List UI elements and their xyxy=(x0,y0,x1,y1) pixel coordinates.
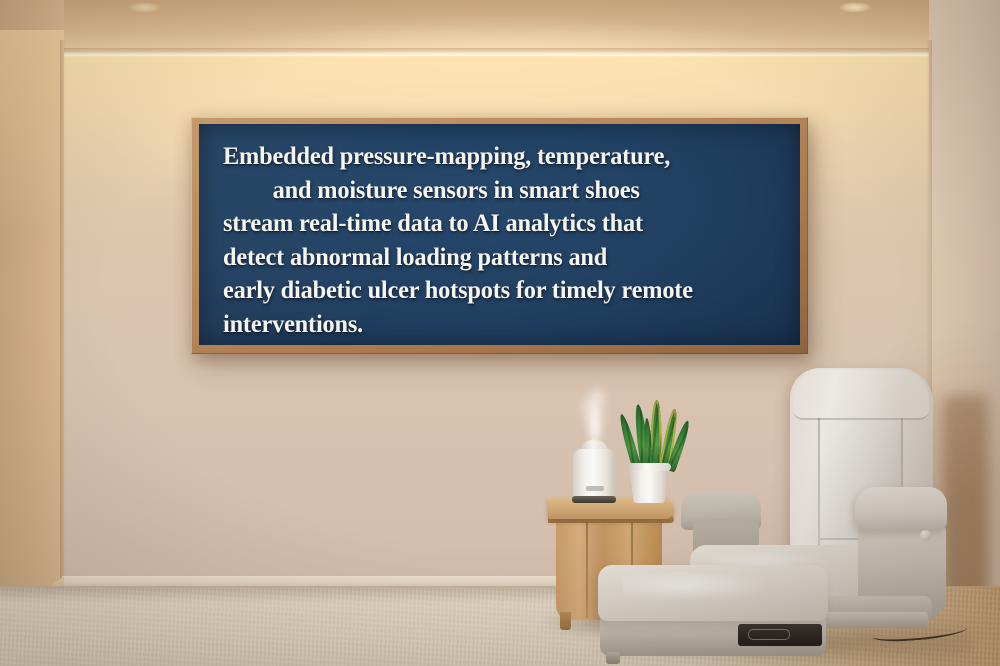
humidifier-label xyxy=(586,486,604,491)
art-canvas: Embedded pressure-mapping, temperature, … xyxy=(199,124,800,345)
room-scene: Embedded pressure-mapping, temperature, … xyxy=(0,0,1000,666)
wall-art-frame[interactable]: Embedded pressure-mapping, temperature, … xyxy=(191,117,808,354)
left-wall-glow xyxy=(0,30,64,230)
downlight-right-icon xyxy=(838,2,872,13)
side-table-seam-left xyxy=(586,520,588,618)
left-wall-corner xyxy=(60,40,65,600)
footrest-highlight xyxy=(622,572,772,602)
art-text-line-6: interventions. xyxy=(223,307,761,341)
art-text-line-3: stream real-time data to AI analytics th… xyxy=(223,206,761,240)
art-text-line-4: detect abnormal loading patterns and xyxy=(223,240,761,274)
footrest-mechanism-detail xyxy=(748,629,790,640)
art-text-line-1: Embedded pressure-mapping, temperature, xyxy=(223,139,761,173)
humidifier-body[interactable] xyxy=(573,449,615,501)
footrest-foot xyxy=(606,652,620,664)
recliner-armrest-right[interactable] xyxy=(855,487,947,531)
plant-pot[interactable] xyxy=(629,466,669,503)
art-panel-text: Embedded pressure-mapping, temperature, … xyxy=(223,139,786,340)
recliner-headrest xyxy=(793,370,929,420)
humidifier-base xyxy=(572,496,616,503)
recliner-control-knob[interactable] xyxy=(920,530,931,541)
art-text-line-2: and moisture sensors in smart shoes xyxy=(223,173,761,207)
plant-pot-rim xyxy=(627,463,671,471)
art-text-line-5: early diabetic ulcer hotspots for timely… xyxy=(223,273,761,307)
downlight-left-icon xyxy=(128,2,162,13)
side-table-leg-left xyxy=(560,612,571,630)
